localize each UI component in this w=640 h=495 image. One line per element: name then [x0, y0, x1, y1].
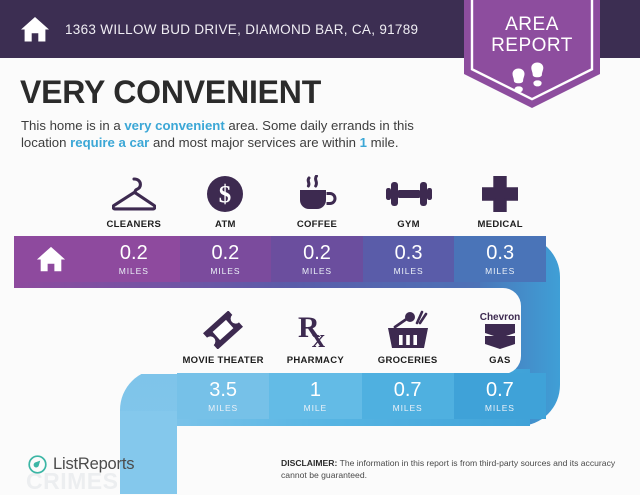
icon-label: GYM — [397, 219, 420, 230]
value-unit: MILES — [208, 403, 238, 413]
value-number: 0.2 — [211, 243, 239, 264]
coffee-cup-icon — [294, 174, 340, 214]
page-title: VERY CONVENIENT — [20, 74, 321, 111]
icon-label: CLEANERS — [106, 219, 161, 230]
value-cell-atm: 0.2 MILES — [180, 236, 272, 282]
area-report-badge: AREA REPORT — [464, 0, 600, 108]
value-cell-gym: 0.3 MILES — [363, 236, 455, 282]
value-unit: MILES — [393, 403, 423, 413]
listreports-logo: ListReports — [28, 455, 134, 474]
value-unit: MILES — [302, 266, 332, 276]
value-cell-movie-theater: 3.5 MILES — [177, 373, 269, 419]
subtitle-part-4: mile. — [367, 135, 399, 150]
dumbbell-icon — [386, 174, 432, 214]
icon-label: MEDICAL — [477, 219, 522, 230]
disclaimer-label: DISCLAIMER: — [281, 458, 337, 468]
page-subtitle: This home is in a very convenient area. … — [21, 117, 453, 151]
disclaimer: DISCLAIMER: The information in this repo… — [281, 458, 619, 481]
home-icon — [35, 244, 67, 274]
icon-cell-medical: MEDICAL — [454, 172, 546, 230]
icon-label: ATM — [215, 219, 236, 230]
medical-cross-icon — [477, 174, 523, 214]
icon-cell-cleaners: CLEANERS — [88, 172, 180, 230]
value-unit: MILES — [485, 266, 515, 276]
value-cell-pharmacy: 1 MILE — [269, 373, 361, 419]
listreports-pin-icon — [28, 455, 47, 474]
value-number: 3.5 — [209, 380, 237, 401]
svg-text:Chevron: Chevron — [480, 312, 521, 323]
value-number: 0.3 — [486, 243, 514, 264]
hanger-icon — [111, 174, 157, 214]
value-cell-groceries: 0.7 MILES — [362, 373, 454, 419]
icon-cell-atm: $ ATM — [180, 172, 272, 230]
value-row-1: 0.2 MILES 0.2 MILES 0.2 MILES 0.3 MILES … — [88, 236, 546, 282]
subtitle-highlight-3: 1 — [360, 135, 367, 150]
value-number: 0.7 — [394, 380, 422, 401]
value-unit: MILES — [394, 266, 424, 276]
icon-cell-gas: Chevron GAS — [454, 304, 546, 366]
value-unit: MILES — [210, 266, 240, 276]
icon-cell-groceries: GROCERIES — [362, 304, 454, 366]
value-row-2: 3.5 MILES 1 MILE 0.7 MILES 0.7 MILES — [177, 373, 546, 419]
svg-text:x: x — [312, 324, 325, 350]
home-cell — [14, 236, 88, 282]
value-number: 1 — [310, 380, 321, 401]
value-number: 0.3 — [395, 243, 423, 264]
value-number: 0.7 — [486, 380, 514, 401]
value-cell-cleaners: 0.2 MILES — [88, 236, 180, 282]
chevron-gas-icon: Chevron — [477, 310, 523, 350]
rx-icon: R x — [292, 310, 338, 350]
value-cell-coffee: 0.2 MILES — [271, 236, 363, 282]
value-number: 0.2 — [303, 243, 331, 264]
icon-label: MOVIE THEATER — [182, 355, 263, 366]
header-address: 1363 WILLOW BUD DRIVE, DIAMOND BAR, CA, … — [65, 22, 418, 37]
icon-row-1: CLEANERS $ ATM COFFEE — [88, 172, 546, 230]
dollar-circle-icon: $ — [202, 174, 248, 214]
icon-label: COFFEE — [297, 219, 337, 230]
subtitle-highlight-2: require a car — [70, 135, 149, 150]
value-unit: MILE — [304, 403, 327, 413]
icon-row-2: MOVIE THEATER R x PHARMACY GROCERIES — [177, 304, 546, 366]
movie-ticket-icon — [200, 310, 246, 350]
icon-cell-movie-theater: MOVIE THEATER — [177, 304, 269, 366]
subtitle-part-1: This home is in a — [21, 118, 124, 133]
value-unit: MILES — [119, 266, 149, 276]
icon-label: GAS — [489, 355, 511, 366]
icon-label: PHARMACY — [287, 355, 344, 366]
icon-cell-gym: GYM — [363, 172, 455, 230]
icon-cell-coffee: COFFEE — [271, 172, 363, 230]
svg-text:$: $ — [219, 182, 232, 209]
value-number: 0.2 — [120, 243, 148, 264]
subtitle-highlight-1: very convenient — [124, 118, 224, 133]
icon-cell-pharmacy: R x PHARMACY — [269, 304, 361, 366]
value-cell-medical: 0.3 MILES — [454, 236, 546, 282]
value-unit: MILES — [485, 403, 515, 413]
icon-label: GROCERIES — [378, 355, 438, 366]
subtitle-part-3: and most major services are within — [149, 135, 359, 150]
listreports-logo-text: ListReports — [53, 455, 134, 474]
value-cell-gas: 0.7 MILES — [454, 373, 546, 419]
grocery-basket-icon — [385, 310, 431, 350]
home-icon — [18, 12, 52, 46]
